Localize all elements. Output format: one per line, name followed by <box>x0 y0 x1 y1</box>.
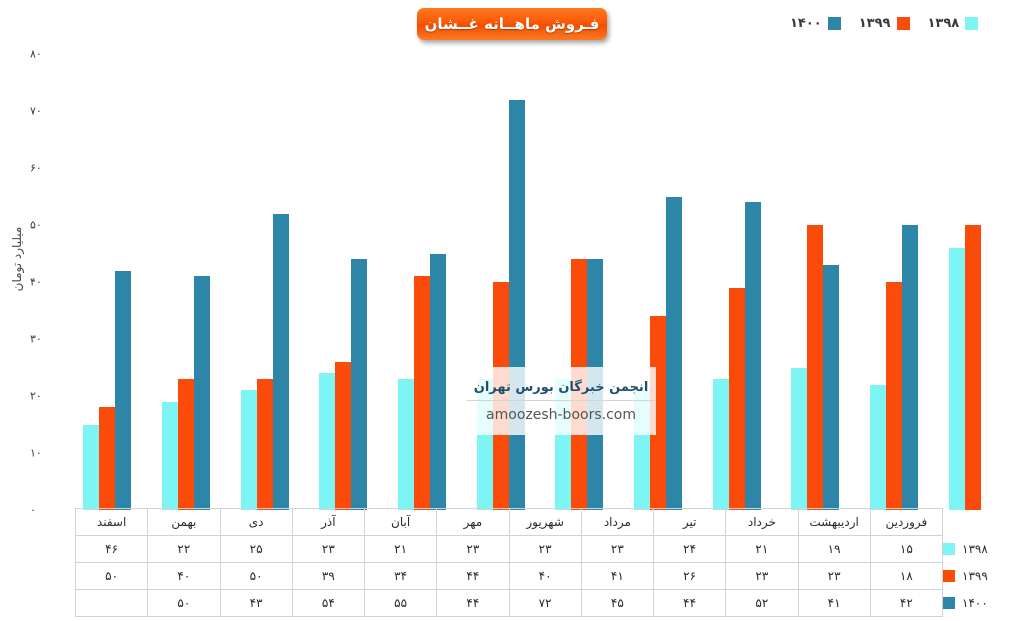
table-cell: ۴۰ <box>509 563 581 590</box>
table-column-header: مهر <box>437 509 509 536</box>
y-axis-tick-label: ۲۰ <box>30 390 66 403</box>
bar[interactable] <box>162 402 178 510</box>
table-column-header: خرداد <box>726 509 798 536</box>
y-axis-tick-label: ۵۰ <box>30 219 66 232</box>
table-column-header: آذر <box>292 509 364 536</box>
bar-group <box>147 0 226 510</box>
bar-group <box>304 0 383 510</box>
table-column-header: دی <box>220 509 292 536</box>
table-cell <box>76 590 148 617</box>
table-column-header: اسفند <box>76 509 148 536</box>
table-cell: ۲۳ <box>726 563 798 590</box>
bar-group <box>697 0 776 510</box>
table-cell: ۴۱ <box>581 563 653 590</box>
table-cell: ۴۲ <box>870 590 942 617</box>
chart-page: فـروش ماهــانه غــشان ۱۳۹۸۱۳۹۹۱۴۰۰ میلیا… <box>0 0 1021 621</box>
bar[interactable] <box>823 265 839 510</box>
table-cell: ۲۱ <box>726 536 798 563</box>
table-cell: ۷۲ <box>509 590 581 617</box>
table-column-header: تیر <box>654 509 726 536</box>
y-axis-tick-label: ۱۰ <box>30 447 66 460</box>
bar[interactable] <box>335 362 351 510</box>
table-cell: ۲۳ <box>292 536 364 563</box>
y-axis-tick-label: ۷۰ <box>30 105 66 118</box>
y-axis-title: میلیارد تومان <box>10 214 24 304</box>
table-column-header: اردیبهشت <box>798 509 870 536</box>
table-cell: ۲۳ <box>509 536 581 563</box>
bar[interactable] <box>351 259 367 510</box>
watermark: انجمن خبرگان بورس تهران amoozesh-boors.c… <box>466 367 656 435</box>
table-row: ۱۳۹۹۱۸۲۳۲۳۲۶۴۱۴۰۴۴۳۴۳۹۵۰۴۰۵۰ <box>76 563 1012 590</box>
table-header-row: فروردیناردیبهشتخردادتیرمردادشهریورمهرآبا… <box>76 509 1012 536</box>
table-column-header: شهریور <box>509 509 581 536</box>
table-column-header: مرداد <box>581 509 653 536</box>
bar-group <box>776 0 855 510</box>
table-cell: ۲۳ <box>437 536 509 563</box>
data-table-wrapper: فروردیناردیبهشتخردادتیرمردادشهریورمهرآبا… <box>75 508 1011 617</box>
table-cell: ۵۰ <box>148 590 220 617</box>
table-row-swatch-icon <box>943 597 955 609</box>
bar[interactable] <box>414 276 430 510</box>
table-column-header: بهمن <box>148 509 220 536</box>
watermark-english: amoozesh-boors.com <box>486 403 636 423</box>
table-cell: ۳۹ <box>292 563 364 590</box>
table-cell: ۴۵ <box>581 590 653 617</box>
bar[interactable] <box>178 379 194 510</box>
bar[interactable] <box>99 407 115 510</box>
y-axis-tick-label: ۳۰ <box>30 333 66 346</box>
table-cell: ۴۴ <box>437 563 509 590</box>
table-cell: ۵۰ <box>220 563 292 590</box>
table-cell: ۴۳ <box>220 590 292 617</box>
bar[interactable] <box>194 276 210 510</box>
table-row-header-label: ۱۳۹۹ <box>962 569 988 583</box>
table-cell: ۵۰ <box>76 563 148 590</box>
table-cell: ۱۵ <box>870 536 942 563</box>
table-cell: ۲۵ <box>220 536 292 563</box>
bar[interactable] <box>115 271 131 510</box>
bar-group <box>225 0 304 510</box>
table-row-header-label: ۱۳۹۸ <box>962 542 988 556</box>
bar[interactable] <box>965 225 981 510</box>
table-cell: ۴۴ <box>437 590 509 617</box>
table-row-header: ۱۳۹۹ <box>943 563 1012 590</box>
bar[interactable] <box>870 385 886 510</box>
table-cell: ۲۶ <box>654 563 726 590</box>
y-axis-tick-label: ۶۰ <box>30 162 66 175</box>
table-cell: ۳۴ <box>365 563 437 590</box>
table-cell: ۵۵ <box>365 590 437 617</box>
table-cell: ۵۴ <box>292 590 364 617</box>
bar[interactable] <box>398 379 414 510</box>
bar[interactable] <box>729 288 745 510</box>
bar-group <box>933 0 1012 510</box>
table-cell: ۲۱ <box>365 536 437 563</box>
bar[interactable] <box>949 248 965 510</box>
table-row: ۱۳۹۸۱۵۱۹۲۱۲۴۲۳۲۳۲۳۲۱۲۳۲۵۲۲۴۶ <box>76 536 1012 563</box>
bar[interactable] <box>241 390 257 510</box>
bar-group <box>383 0 462 510</box>
table-cell: ۴۱ <box>798 590 870 617</box>
bar[interactable] <box>886 282 902 510</box>
bar[interactable] <box>745 202 761 510</box>
table-cell: ۱۸ <box>870 563 942 590</box>
y-axis-tick-label: ۴۰ <box>30 276 66 289</box>
bar[interactable] <box>902 225 918 510</box>
table-row-swatch-icon <box>943 543 955 555</box>
table-cell: ۱۹ <box>798 536 870 563</box>
bar[interactable] <box>807 225 823 510</box>
table-cell: ۲۳ <box>798 563 870 590</box>
data-table: فروردیناردیبهشتخردادتیرمردادشهریورمهرآبا… <box>75 508 1011 617</box>
y-axis-tick-label: ۸۰ <box>30 48 66 61</box>
table-row: ۱۴۰۰۴۲۴۱۵۲۴۴۴۵۷۲۴۴۵۵۵۴۴۳۵۰ <box>76 590 1012 617</box>
table-cell: ۴۶ <box>76 536 148 563</box>
table-column-header: آبان <box>365 509 437 536</box>
table-cell: ۲۴ <box>654 536 726 563</box>
bar[interactable] <box>713 379 729 510</box>
table-corner-cell <box>943 509 1012 536</box>
bar[interactable] <box>257 379 273 510</box>
watermark-divider <box>466 400 656 401</box>
bar-group <box>68 0 147 510</box>
bar[interactable] <box>509 100 525 510</box>
y-axis-tick-label: ۰ <box>30 504 66 517</box>
table-row-swatch-icon <box>943 570 955 582</box>
table-cell: ۲۳ <box>581 536 653 563</box>
bar[interactable] <box>791 368 807 511</box>
bar-group <box>855 0 934 510</box>
table-cell: ۲۲ <box>148 536 220 563</box>
bar[interactable] <box>430 254 446 511</box>
table-row-header-label: ۱۴۰۰ <box>962 596 988 610</box>
table-row-header: ۱۳۹۸ <box>943 536 1012 563</box>
table-row-header: ۱۴۰۰ <box>943 590 1012 617</box>
watermark-persian: انجمن خبرگان بورس تهران <box>474 380 649 398</box>
table-cell: ۴۴ <box>654 590 726 617</box>
table-cell: ۵۲ <box>726 590 798 617</box>
bar[interactable] <box>666 197 682 511</box>
bar[interactable] <box>83 425 99 511</box>
table-column-header: فروردین <box>870 509 942 536</box>
bar[interactable] <box>319 373 335 510</box>
table-cell: ۴۰ <box>148 563 220 590</box>
bar[interactable] <box>273 214 289 510</box>
